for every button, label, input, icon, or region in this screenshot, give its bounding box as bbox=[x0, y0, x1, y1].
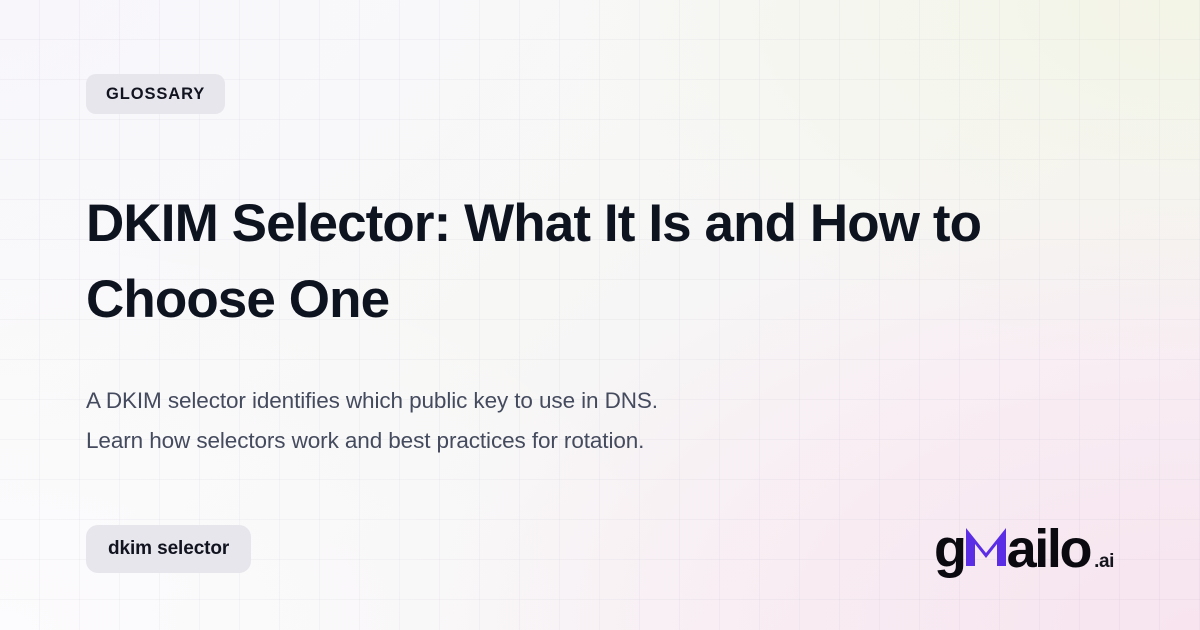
page-title: DKIM Selector: What It Is and How to Cho… bbox=[86, 186, 1086, 339]
logo-letter-g: g bbox=[934, 522, 965, 576]
page-title-line-1: DKIM Selector: What It Is and How bbox=[86, 194, 919, 253]
og-card: GLOSSARY DKIM Selector: What It Is and H… bbox=[0, 0, 1200, 630]
topic-tag: dkim selector bbox=[86, 525, 251, 573]
card-content: GLOSSARY DKIM Selector: What It Is and H… bbox=[0, 0, 1200, 630]
page-subtitle-line-2: Learn how selectors work and best practi… bbox=[86, 421, 946, 461]
page-subtitle: A DKIM selector identifies which public … bbox=[86, 381, 946, 461]
logo-tld: .ai bbox=[1094, 552, 1114, 571]
card-footer: dkim selector g ailo .ai bbox=[86, 522, 1114, 576]
logo-letter-m-icon bbox=[964, 527, 1008, 567]
logo-letters-ailo: ailo bbox=[1007, 522, 1090, 576]
page-subtitle-line-1: A DKIM selector identifies which public … bbox=[86, 381, 946, 421]
category-badge: GLOSSARY bbox=[86, 74, 225, 114]
brand-logo: g ailo .ai bbox=[934, 522, 1114, 576]
